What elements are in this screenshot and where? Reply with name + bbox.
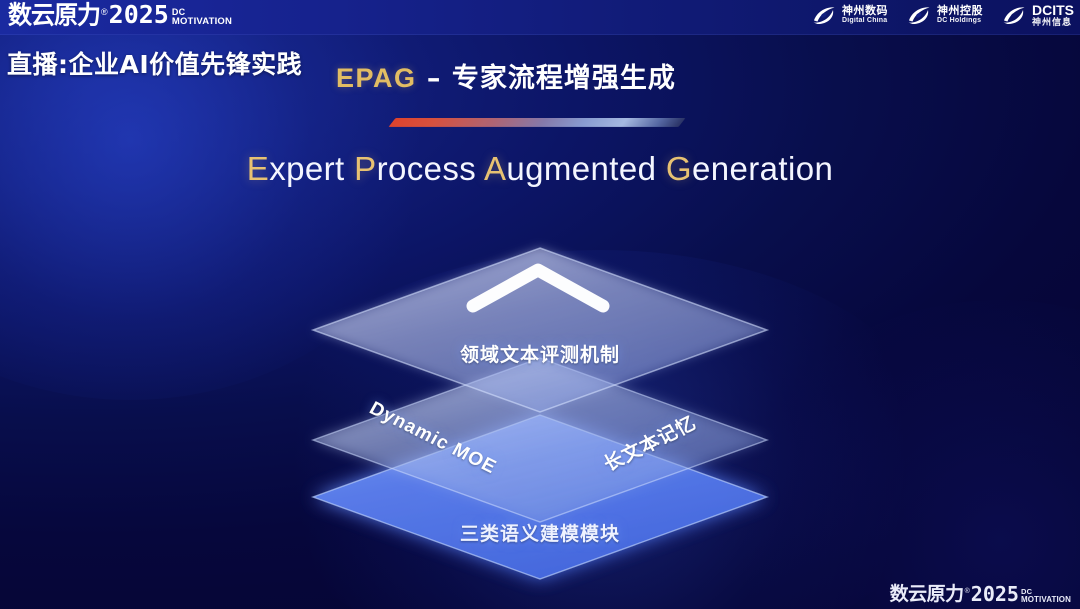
header-bar: 数云原力 ® 2025 DC MOTIVATION 神州数码 xyxy=(0,0,1080,35)
subtitle-cap-g: G xyxy=(666,150,692,187)
partner-name-cn: 神州数码 xyxy=(842,6,888,18)
partner-logo-group: 神州数码 Digital China 神州控股 DC Holdings xyxy=(811,3,1074,27)
live-stream-title: 直播:企业AI价值先锋实践 xyxy=(7,45,302,81)
partner-logo-dc-holdings: 神州控股 DC Holdings xyxy=(906,4,983,26)
brand-dc-motivation: DC MOTIVATION xyxy=(172,8,232,26)
page-subtitle: Expert Process Augmented Generation xyxy=(0,150,1080,188)
gradient-divider-bar xyxy=(388,118,685,127)
partner-logo-text: 神州控股 DC Holdings xyxy=(937,6,983,25)
partner-logo-text: 神州数码 Digital China xyxy=(842,6,888,25)
watermark-name-cn: 数云原力 xyxy=(890,584,964,605)
footer-brand-watermark: 数云原力 ® 2025 DC MOTIVATION xyxy=(890,584,1071,605)
partner-logo-digital-china: 神州数码 Digital China xyxy=(811,4,888,26)
subtitle-cap-a: A xyxy=(484,150,506,187)
partner-name-cn: 神州控股 xyxy=(937,6,983,18)
subtitle-rest-process: rocess xyxy=(377,150,477,187)
stack-layer-top-label: 领域文本评测机制 xyxy=(460,340,620,367)
watermark-motivation-word: MOTIVATION xyxy=(1021,596,1071,604)
partner-name-en: Digital China xyxy=(842,17,888,24)
title-chinese: 专家流程增强生成 xyxy=(452,63,676,94)
brand-year: 2025 xyxy=(109,2,169,28)
subtitle-word-augmented: Augmented xyxy=(484,150,656,187)
partner-name-cn: DCITS xyxy=(1032,3,1074,18)
subtitle-rest-expert: xpert xyxy=(269,150,344,187)
watermark-registered-mark: ® xyxy=(965,587,970,596)
dc-holdings-swoosh-icon xyxy=(906,4,932,26)
isometric-layer-stack: 三类语义建模模块 Dynamic MO xyxy=(280,222,800,572)
subtitle-cap-e: E xyxy=(247,150,269,187)
partner-name-en: DC Holdings xyxy=(937,17,983,24)
slide-canvas: 数云原力 ® 2025 DC MOTIVATION 神州数码 xyxy=(0,0,1080,609)
watermark-dc-motivation: DC MOTIVATION xyxy=(1021,588,1071,604)
event-brand-logo: 数云原力 ® 2025 DC MOTIVATION xyxy=(8,2,232,28)
page-title: EPAG – 专家流程增强生成 xyxy=(336,56,676,95)
watermark-year: 2025 xyxy=(971,584,1019,605)
partner-logo-dcits: DCITS 神州信息 xyxy=(1001,3,1074,27)
brand-registered-mark: ® xyxy=(101,6,108,18)
subtitle-cap-p: P xyxy=(354,150,376,187)
partner-name-en: 神州信息 xyxy=(1032,18,1074,27)
stack-layer-top[interactable]: 领域文本评测机制 xyxy=(280,222,800,572)
subtitle-rest-generation: eneration xyxy=(692,150,833,187)
chevron-up-icon xyxy=(463,258,613,316)
subtitle-word-generation: Generation xyxy=(666,150,833,187)
title-acronym: EPAG xyxy=(336,63,417,93)
subtitle-word-expert: Expert xyxy=(247,150,345,187)
subtitle-rest-augmented: ugmented xyxy=(506,150,656,187)
subtitle-word-process: Process xyxy=(354,150,476,187)
title-dash: – xyxy=(417,63,452,94)
partner-logo-text: DCITS 神州信息 xyxy=(1032,3,1074,27)
brand-name-cn: 数云原力 xyxy=(8,1,100,28)
digital-china-swoosh-icon xyxy=(811,4,837,26)
dcits-swoosh-icon xyxy=(1001,4,1027,26)
brand-motivation-word: MOTIVATION xyxy=(172,17,232,26)
